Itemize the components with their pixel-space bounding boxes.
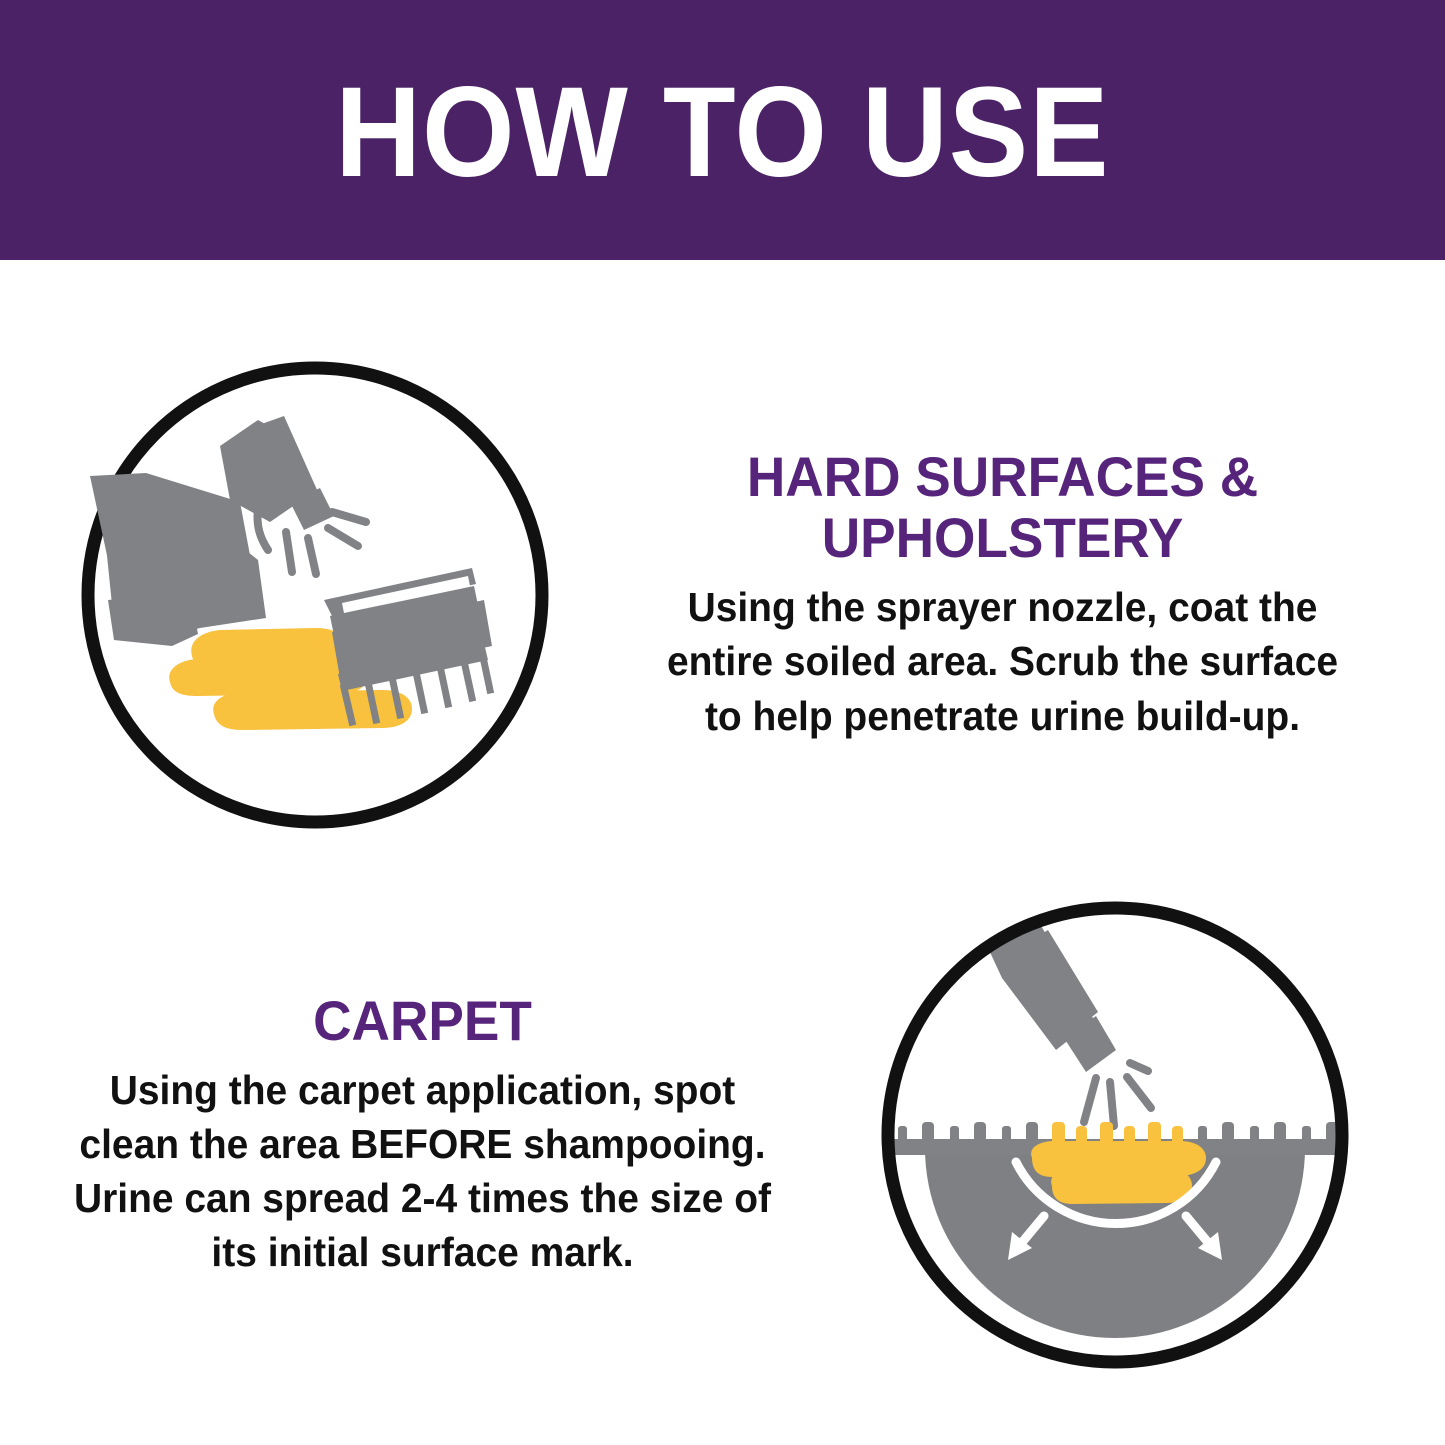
page-title: HOW TO USE [335, 69, 1109, 197]
carpet-cross-section-spray-icon [880, 900, 1350, 1370]
section-carpet: CARPET Using the carpet application, spo… [0, 880, 1445, 1390]
hard-surfaces-text-cell: HARD SURFACES & UPHOLSTERY Using the spr… [630, 447, 1430, 742]
header-banner: HOW TO USE [0, 0, 1445, 260]
spray-bottle-and-scrub-brush-icon [80, 360, 550, 830]
carpet-icon-cell [800, 900, 1430, 1370]
section-hard-surfaces: HARD SURFACES & UPHOLSTERY Using the spr… [0, 300, 1445, 890]
hard-surfaces-heading: HARD SURFACES & UPHOLSTERY [649, 447, 1357, 568]
carpet-heading: CARPET [64, 991, 781, 1051]
carpet-text-cell: CARPET Using the carpet application, spo… [0, 991, 800, 1280]
infographic-page: HOW TO USE [0, 0, 1445, 1445]
hard-surfaces-description: Using the sprayer nozzle, coat the entir… [649, 580, 1357, 742]
hard-surfaces-icon-cell [0, 360, 630, 830]
carpet-description: Using the carpet application, spot clean… [64, 1063, 781, 1279]
